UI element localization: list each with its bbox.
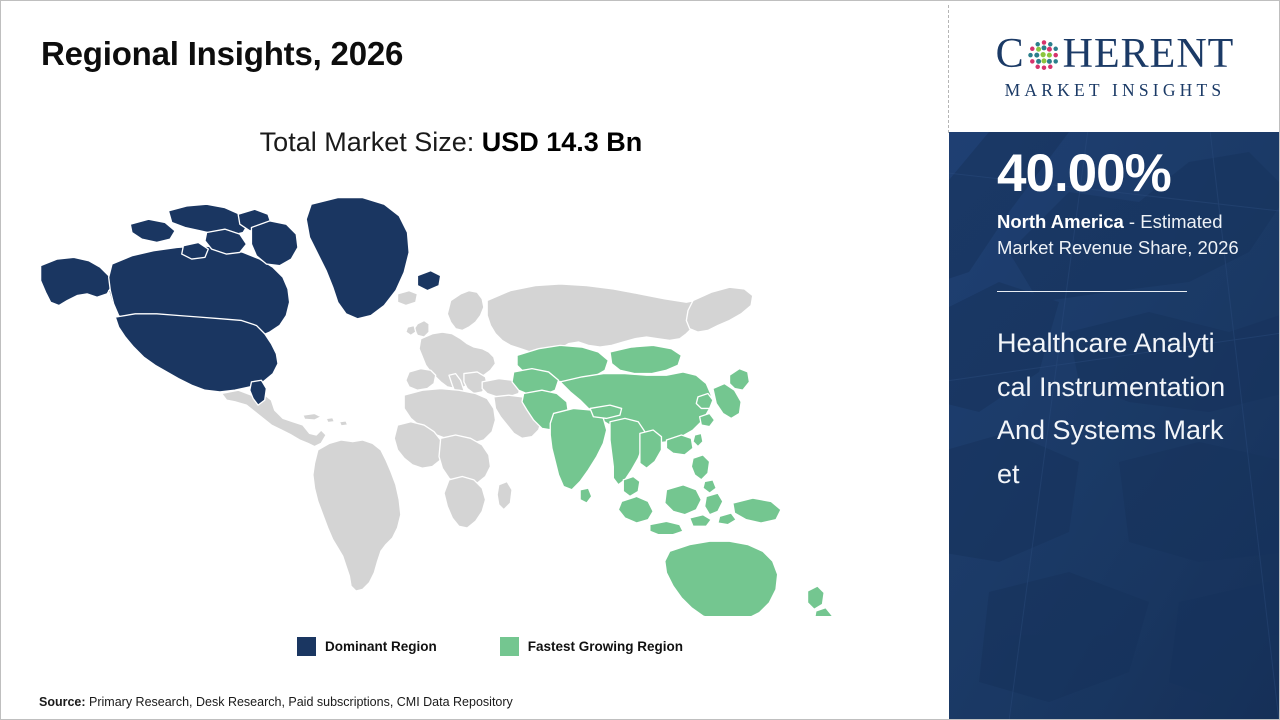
market-size-prefix: Total Market Size: [260,127,482,157]
logo-letter-c: C [996,33,1025,75]
source-label: Source: [39,695,86,709]
logo-wordmark: C [996,33,1235,75]
highlight-panel: 40.00% North America - Estimated Market … [949,132,1280,720]
slide-root: Regional Insights, 2026 Total Market Siz… [0,0,1280,720]
source-note: Source: Primary Research, Desk Research,… [39,695,513,709]
legend-swatch-dominant-icon [297,637,316,656]
world-map [29,176,859,616]
panel-content: 40.00% North America - Estimated Market … [997,132,1265,720]
legend-item-dominant: Dominant Region [297,637,437,656]
legend-item-fastest-growing: Fastest Growing Region [500,637,683,656]
globe-dots-svg [1026,38,1062,74]
world-map-svg [29,176,859,616]
left-content-panel: Regional Insights, 2026 Total Market Siz… [1,1,949,720]
globe-dots-icon [1026,38,1062,74]
map-region-north-america [41,198,441,406]
legend-label-fastest-growing: Fastest Growing Region [528,637,683,656]
legend-label-dominant: Dominant Region [325,637,437,656]
total-market-size: Total Market Size: USD 14.3 Bn [1,127,901,158]
logo-tagline: MARKET INSIGHTS [1005,82,1226,100]
page-title: Regional Insights, 2026 [41,35,403,73]
market-title: Healthcare Analytical Instrumentation An… [997,322,1227,497]
stat-percentage: 40.00% [997,147,1171,200]
map-legend: Dominant Region Fastest Growing Region [297,637,683,656]
map-region-asia-pacific [512,345,832,616]
legend-swatch-fastest-icon [500,637,519,656]
stat-region-name: North America [997,211,1124,232]
stat-divider-rule [997,291,1187,292]
logo-word-herent: HERENT [1063,33,1235,75]
source-text: Primary Research, Desk Research, Paid su… [86,695,513,709]
coherent-market-insights-logo: C [965,33,1265,100]
market-size-value: USD 14.3 Bn [482,127,643,157]
brand-logo-area: C [949,1,1280,132]
stat-caption: North America - Estimated Market Revenue… [997,209,1263,262]
